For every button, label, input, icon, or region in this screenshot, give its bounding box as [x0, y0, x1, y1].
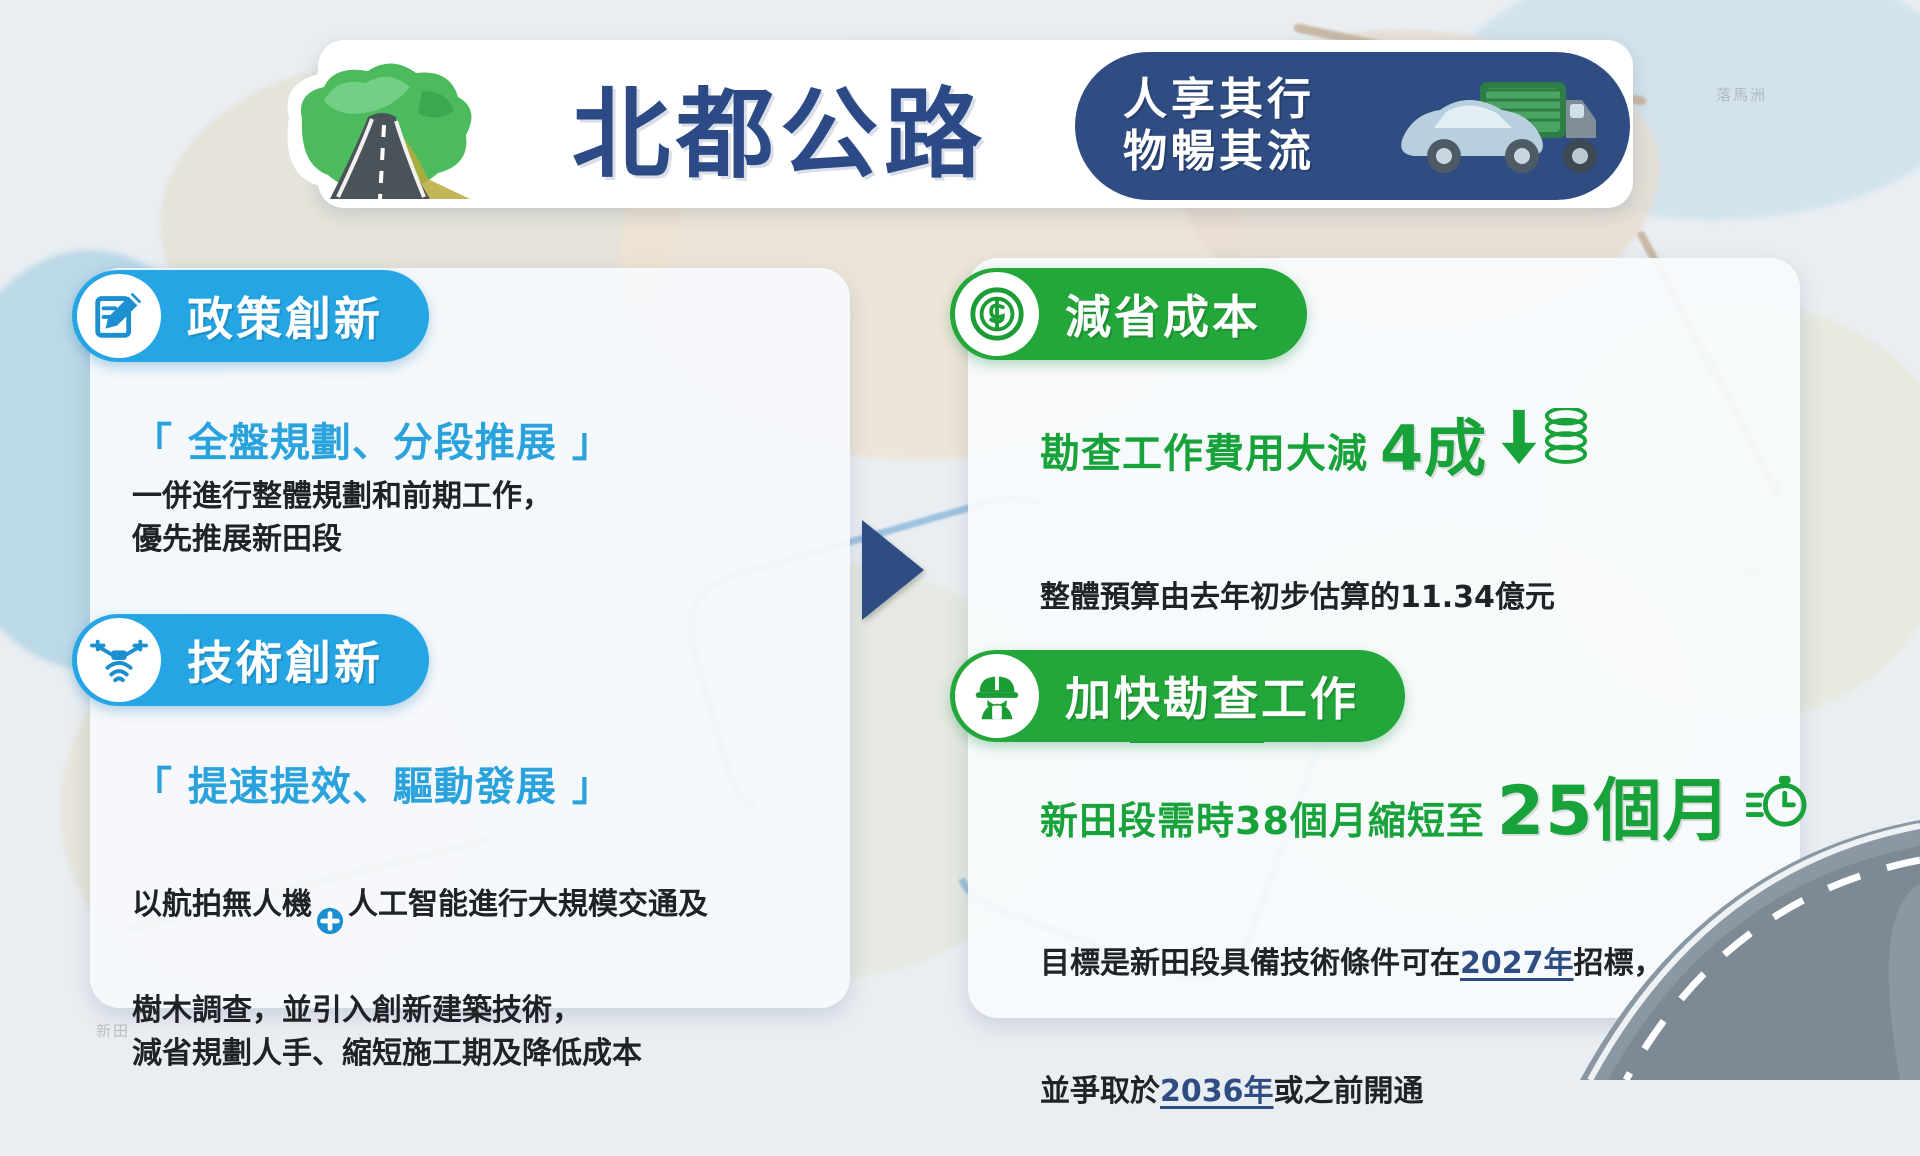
- card-header-technology-innovation[interactable]: 技術創新: [72, 614, 429, 706]
- clipboard-pencil-icon: [77, 274, 161, 358]
- drone-icon: [77, 618, 161, 702]
- tech-body-part1: 以航拍無人機: [132, 884, 312, 927]
- tech-body-rest: 樹木調查，並引入創新建築技術， 減省規劃人手、縮短施工期及降低成本: [132, 990, 708, 1075]
- policy-body: 一併進行整體規劃和前期工作， 優先推展新田段: [132, 476, 552, 561]
- map-label: 新田: [96, 1020, 130, 1041]
- tech-body: 以航拍無人機 人工智能進行大規模交通及 樹木調查，並引入創新建築技術， 減省規劃…: [132, 820, 708, 1118]
- survey-detail-1a: 目標是新田段具備技術條件可在: [1040, 946, 1460, 981]
- card-header-faster-survey[interactable]: 加快勘查工作: [950, 650, 1405, 742]
- page-title: 北都公路: [540, 56, 1020, 196]
- engineer-helmet-icon: [955, 654, 1039, 738]
- tech-body-part2: 人工智能進行大規模交通及: [348, 884, 708, 927]
- tech-quote: 「 提速提效、驅動發展 」: [132, 754, 613, 812]
- survey-detail-2a: 並爭取於: [1040, 1074, 1160, 1109]
- road-corner-graphic: [1400, 780, 1920, 1080]
- dollar-coin-icon: [955, 272, 1039, 356]
- policy-quote: 「 全盤規劃、分段推展 」: [132, 410, 613, 468]
- card-title: 政策創新: [187, 283, 383, 349]
- right-arrow-marker: [862, 520, 924, 620]
- cost-detail: 整體預算由去年初步估算的11.34億元 下調至6.88億元: [1040, 492, 1555, 790]
- survey-detail-2b: 2036年: [1160, 1074, 1274, 1109]
- coin-stack-icon: [1543, 408, 1589, 475]
- cost-stat-value: 4成: [1380, 420, 1487, 479]
- cost-stat-line: 勘查工作費用大減 4成: [1040, 408, 1589, 479]
- car-and-truck-icon: [1394, 74, 1604, 180]
- slogan-text: 人享其行 物暢其流: [1123, 74, 1315, 178]
- card-header-cost-saving[interactable]: 減省成本: [950, 268, 1307, 360]
- cost-detail-1a: 整體預算由去年初步估算的: [1040, 580, 1400, 615]
- map-label: 落馬洲: [1716, 84, 1767, 105]
- cost-stat-prefix: 勘查工作費用大減: [1040, 421, 1368, 479]
- cost-detail-1b: 11.34億元: [1400, 580, 1555, 615]
- card-title: 加快勘查工作: [1065, 663, 1359, 729]
- card-title: 減省成本: [1065, 281, 1261, 347]
- down-arrow-icon: [1499, 408, 1539, 475]
- forest-road-logo: [272, 47, 502, 209]
- slogan-banner: 人享其行 物暢其流: [1075, 52, 1630, 200]
- card-title: 技術創新: [187, 627, 383, 693]
- plus-icon: [316, 863, 344, 948]
- card-header-policy-innovation[interactable]: 政策創新: [72, 270, 429, 362]
